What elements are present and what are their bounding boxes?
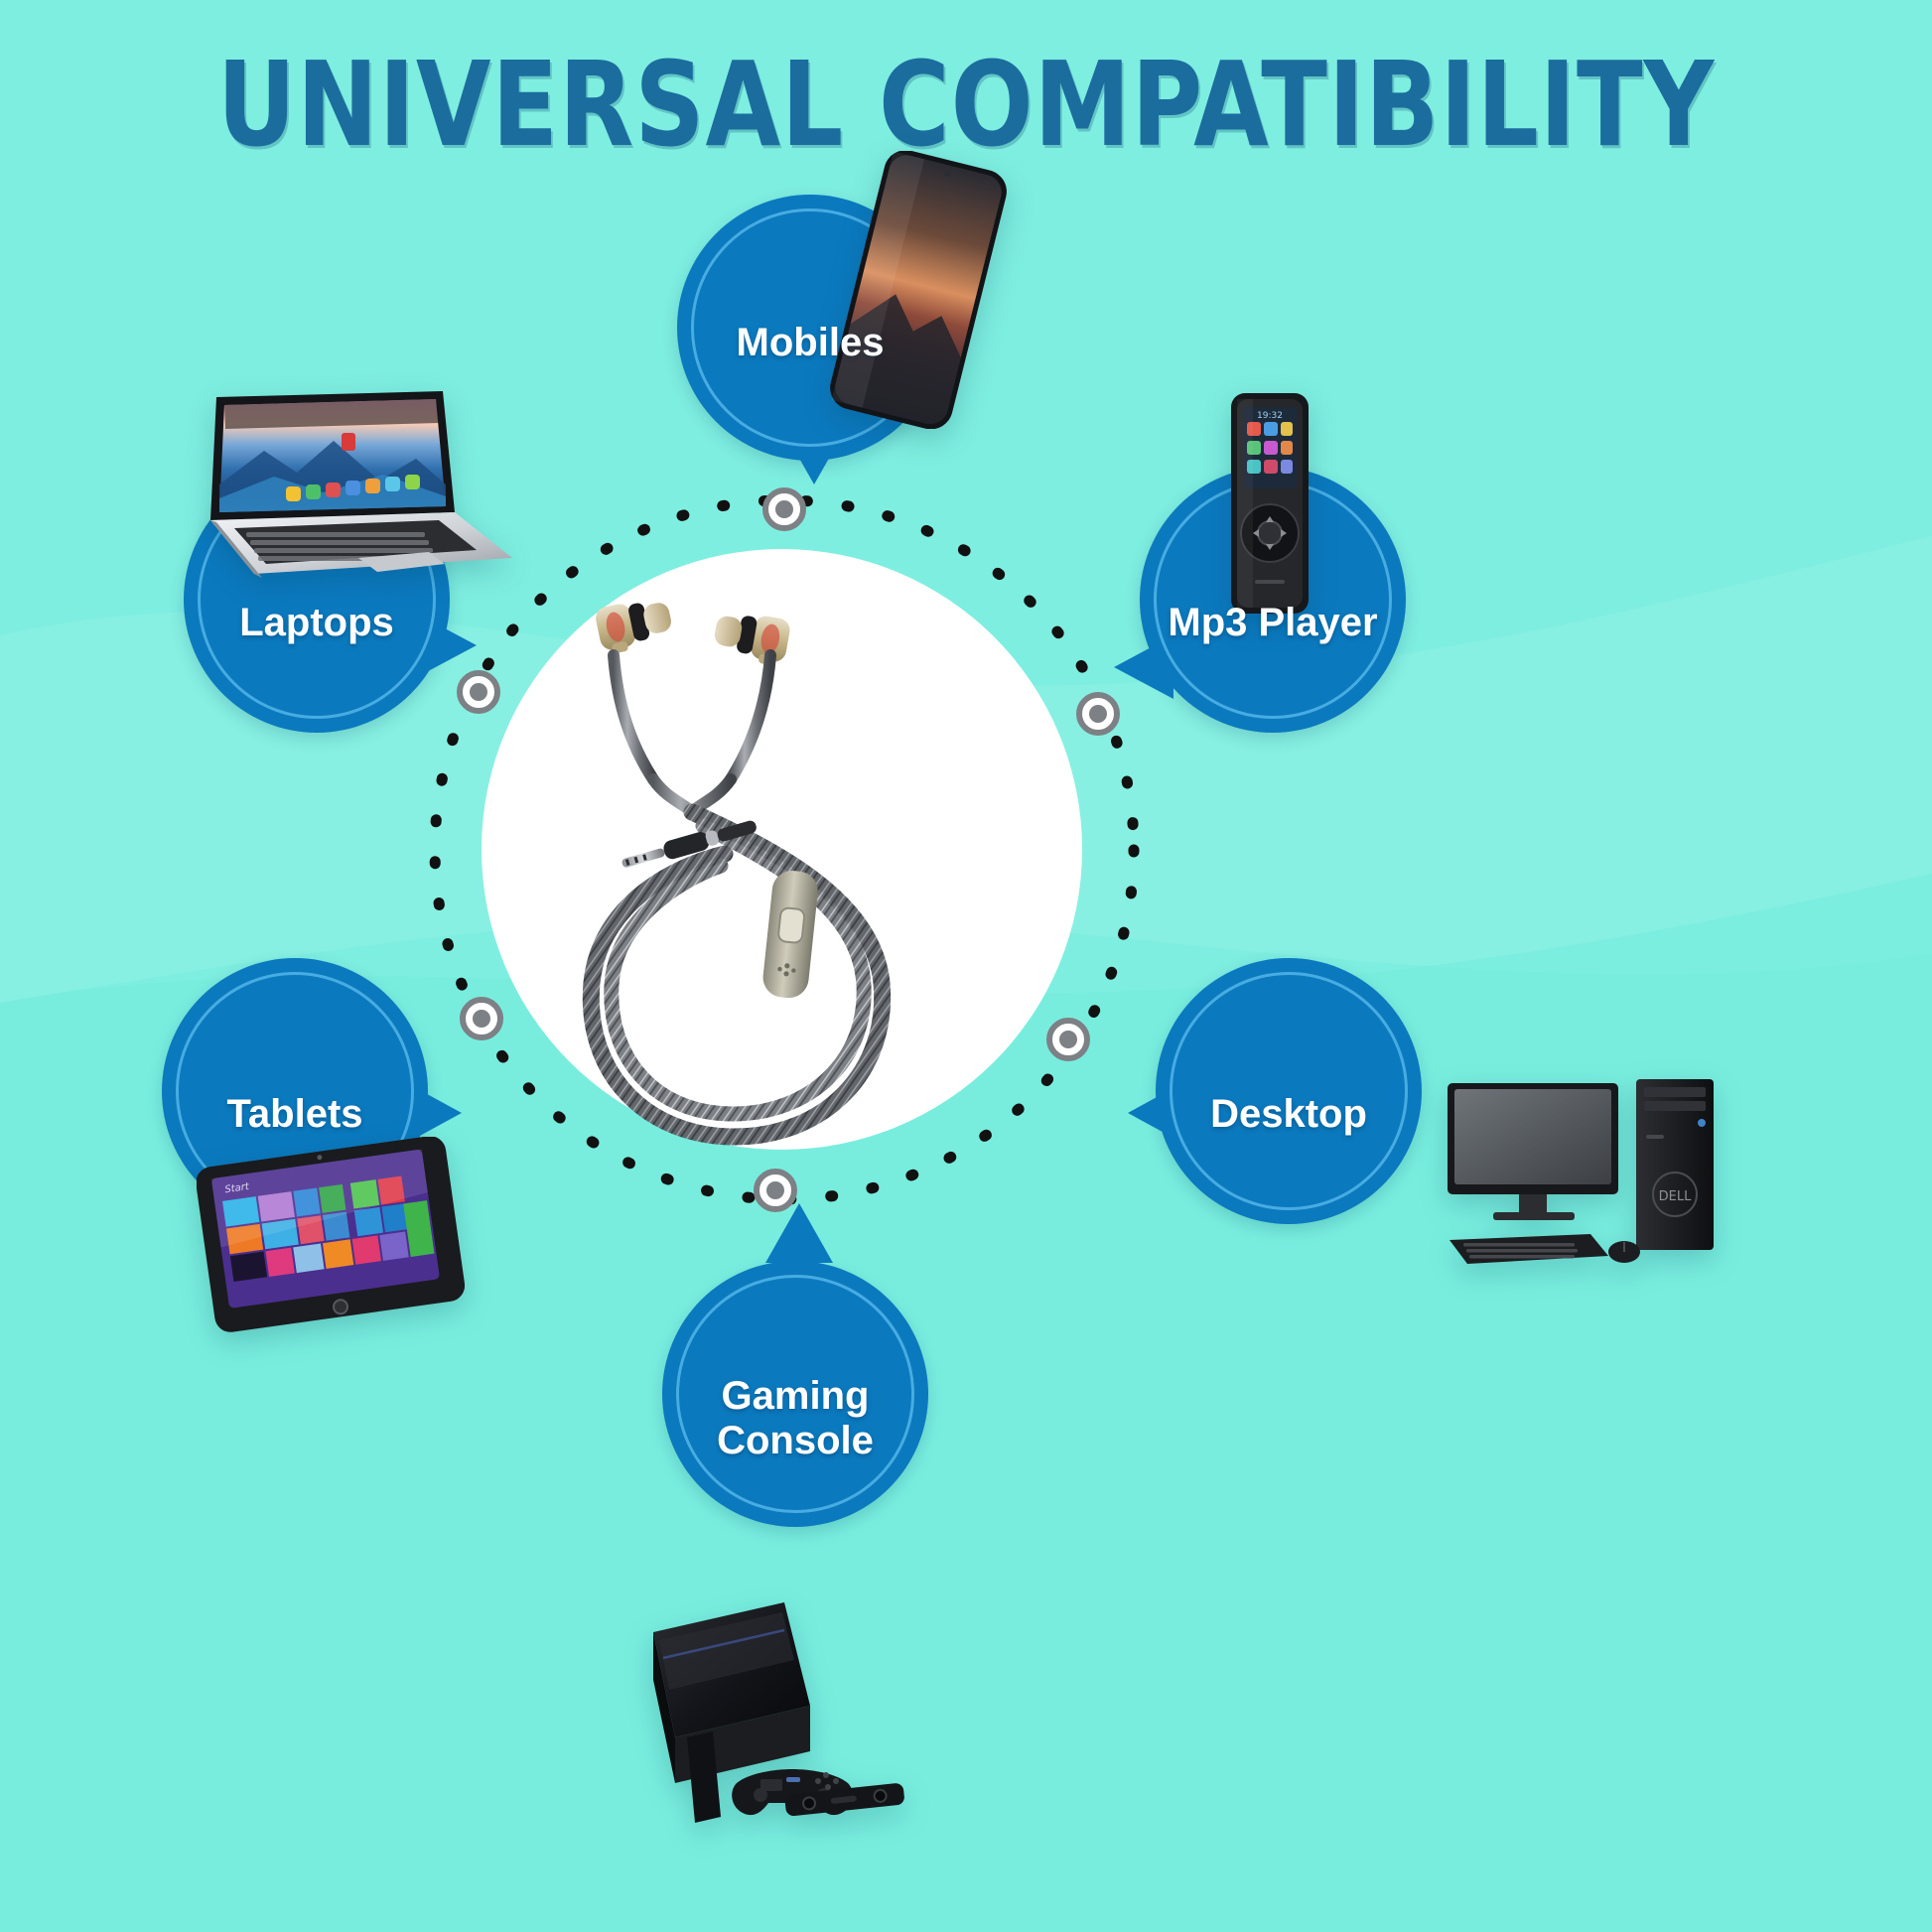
bubble-tail-gaming	[765, 1203, 833, 1263]
bubble-desktop[interactable]: Desktop	[1156, 958, 1422, 1224]
tablet-icon: Start	[197, 1137, 465, 1335]
connector-dot-mobiles	[762, 487, 806, 531]
mp3-player-icon: 19:32	[1207, 389, 1336, 618]
connector-dot-tablets	[460, 997, 503, 1040]
bubble-label-desktop: Desktop	[1156, 1092, 1422, 1137]
svg-text:DELL: DELL	[1659, 1189, 1692, 1204]
bubble-gaming-console[interactable]: Gaming Console	[662, 1261, 928, 1527]
bubble-label-mp3-player: Mp3 Player	[1140, 601, 1406, 645]
game-console-icon	[635, 1588, 933, 1857]
bubble-label-tablets: Tablets	[162, 1092, 428, 1137]
mp3-time: 19:32	[1257, 411, 1283, 421]
node-desktop[interactable]: Desktop	[1156, 958, 1422, 1224]
bubble-inner-ring	[1170, 972, 1408, 1210]
laptop-icon	[195, 389, 522, 598]
infographic-canvas: UNIVERSAL COMPATIBILITY	[0, 0, 1932, 1932]
desktop-computer-icon: DELL	[1442, 1077, 1729, 1296]
node-gaming-console[interactable]: Gaming Console	[662, 1261, 928, 1527]
bubble-label-gaming-console: Gaming Console	[662, 1374, 928, 1463]
connector-dot-desktop	[1046, 1018, 1090, 1061]
bubble-label-gaming-line2: Console	[717, 1419, 874, 1462]
bubble-label-laptops: Laptops	[184, 601, 450, 645]
bubble-tail-mobiles	[780, 425, 848, 484]
bubble-label-mobiles: Mobiles	[677, 321, 943, 365]
bubble-label-gaming-line1: Gaming	[722, 1374, 870, 1418]
page-title: UNIVERSAL COMPATIBILITY	[77, 44, 1855, 167]
dashed-connection-ring	[429, 494, 1140, 1205]
smartphone-icon	[820, 151, 1019, 429]
